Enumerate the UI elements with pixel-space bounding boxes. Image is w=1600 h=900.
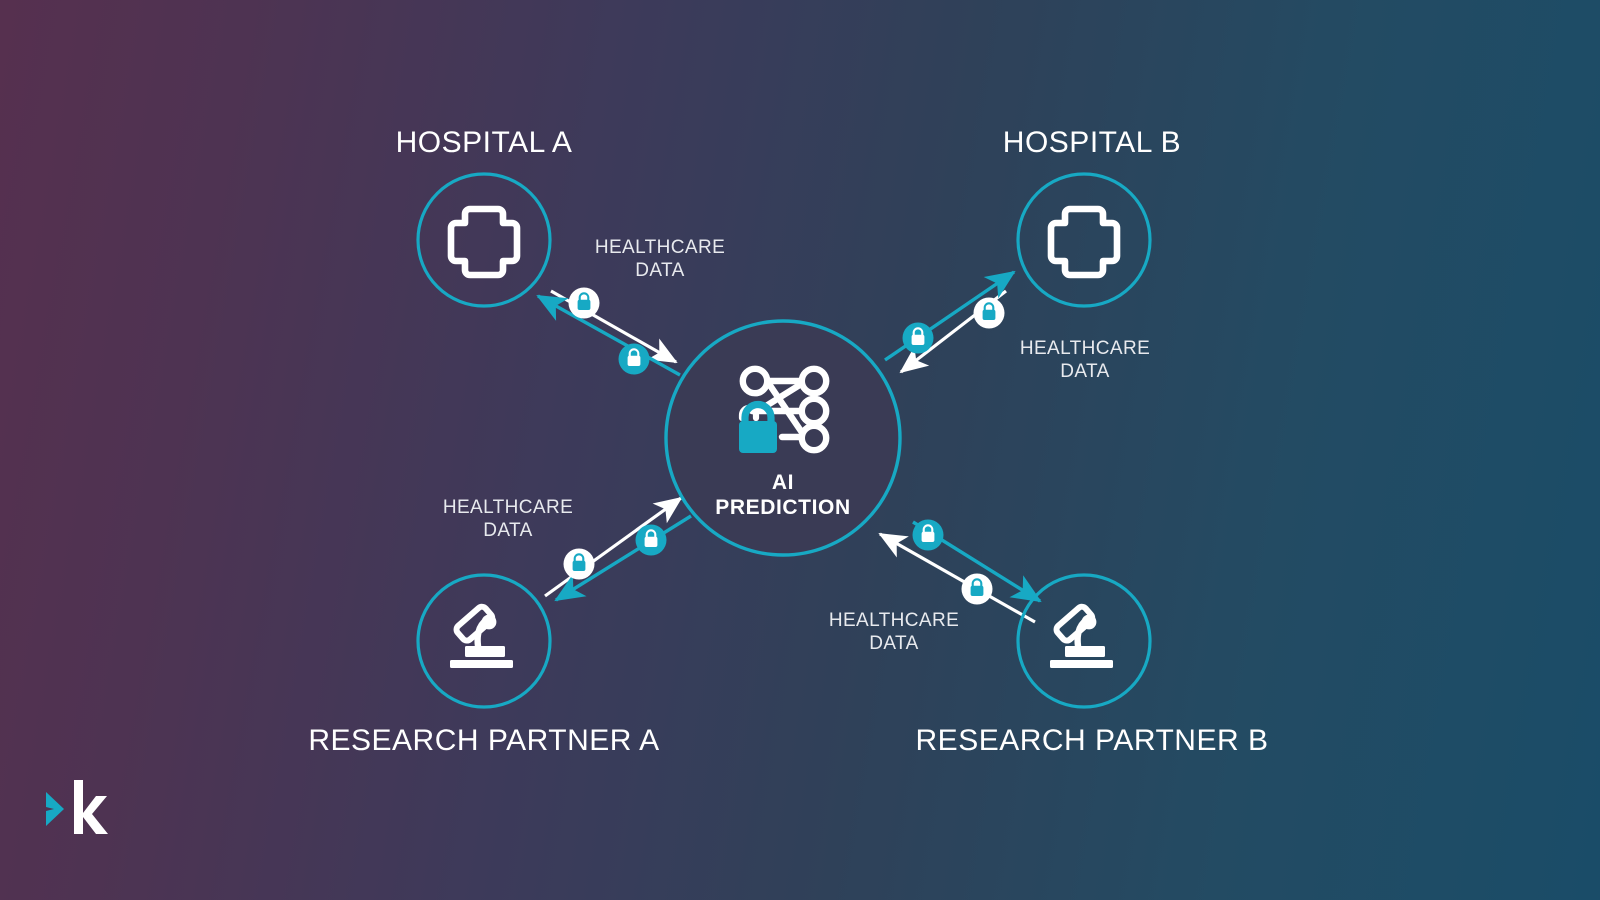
center-label-line2: PREDICTION [663, 495, 903, 520]
node-research-partner-b[interactable] [1018, 575, 1150, 707]
edge-label-line2: DATA [530, 259, 790, 282]
edge-research-partner-a-inbound-lock-badge [636, 525, 667, 556]
edge-research-partner-b-outbound-lock-badge [962, 574, 993, 605]
center-label-line1: AI [663, 470, 903, 495]
node-label-research-partner-b: RESEARCH PARTNER B [842, 724, 1342, 758]
edge-hospital-a-outbound-lock-badge [569, 288, 600, 319]
hospital-cross-icon [451, 209, 517, 275]
edge-hospital-b-outbound-lock-badge [974, 298, 1005, 329]
microscope-icon [1050, 605, 1113, 668]
node-hospital-b-ring [1018, 174, 1150, 306]
edge-label-research-partner-a: HEALTHCARE DATA [378, 496, 638, 542]
node-hospital-b[interactable] [1018, 174, 1150, 306]
microscope-icon [450, 605, 513, 668]
hospital-cross-icon [1051, 209, 1117, 275]
edge-research-partner-b-inbound-lock-badge [913, 520, 944, 551]
node-label-hospital-b: HOSPITAL B [942, 126, 1242, 160]
federated-network-graphic [0, 0, 1600, 900]
node-research-partner-a[interactable] [418, 575, 550, 707]
center-node-label: AI PREDICTION [663, 470, 903, 520]
edge-hospital-a [538, 288, 680, 376]
edge-label-line1: HEALTHCARE [955, 337, 1215, 360]
edge-label-hospital-b: HEALTHCARE DATA [955, 337, 1215, 383]
chevron-icon [46, 792, 64, 826]
logo-letter-k [74, 780, 108, 834]
edge-label-line2: DATA [955, 360, 1215, 383]
edge-label-line1: HEALTHCARE [530, 236, 790, 259]
edge-research-partner-a-outbound-lock-badge [564, 549, 595, 580]
brand-logo[interactable] [44, 778, 124, 840]
edge-research-partner-b [880, 520, 1040, 623]
node-label-research-partner-a: RESEARCH PARTNER A [234, 724, 734, 758]
node-research-partner-a-ring [418, 575, 550, 707]
edge-hospital-b-inbound-lock-badge [903, 323, 934, 354]
edge-label-line2: DATA [378, 519, 638, 542]
diagram-canvas: HOSPITAL A HOSPITAL B RESEARCH PARTNER A… [0, 0, 1600, 900]
edge-hospital-a-inbound-lock-badge [619, 344, 650, 375]
edge-label-line1: HEALTHCARE [378, 496, 638, 519]
edge-label-hospital-a: HEALTHCARE DATA [530, 236, 790, 282]
edge-label-research-partner-b: HEALTHCARE DATA [764, 609, 1024, 655]
edge-hospital-a-inbound-arrow [538, 296, 680, 375]
node-research-partner-b-ring [1018, 575, 1150, 707]
edge-label-line1: HEALTHCARE [764, 609, 1024, 632]
node-label-hospital-a: HOSPITAL A [334, 126, 634, 160]
edge-label-line2: DATA [764, 632, 1024, 655]
